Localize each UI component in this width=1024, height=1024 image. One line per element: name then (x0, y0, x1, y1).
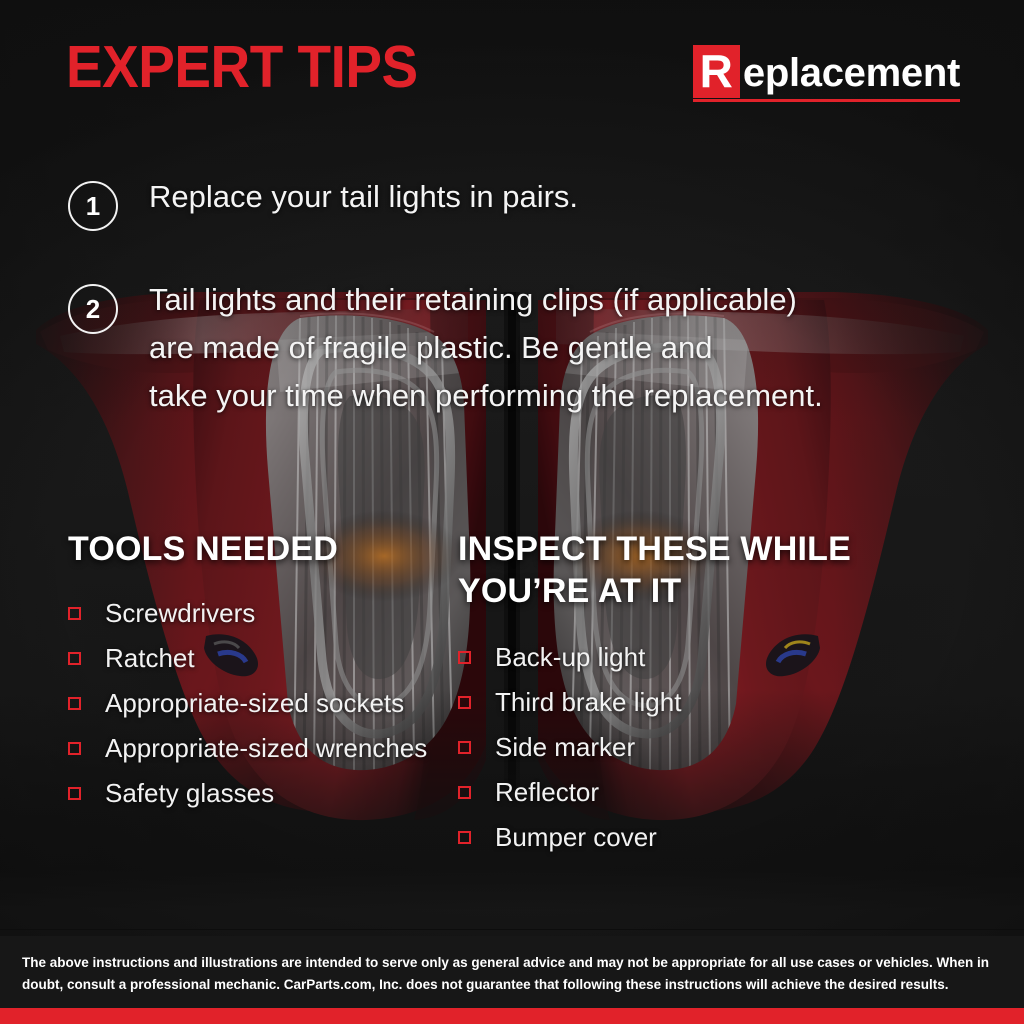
list-item-label: Safety glasses (105, 771, 274, 816)
list-item-label: Ratchet (105, 636, 195, 681)
list-item: Screwdrivers (68, 591, 427, 636)
list-item-label: Third brake light (495, 680, 681, 725)
tools-needed-section: TOOLS NEEDED Screwdrivers Ratchet Approp… (68, 528, 427, 816)
tip-item-2: 2 Tail lights and their retaining clips … (68, 284, 823, 420)
replacement-logo: R eplacement (693, 45, 960, 102)
tools-needed-list: Screwdrivers Ratchet Appropriate-sized s… (68, 591, 427, 816)
tools-needed-heading: TOOLS NEEDED (68, 528, 427, 570)
tip-text-2: Tail lights and their retaining clips (i… (149, 276, 823, 420)
checkbox-square-icon (68, 607, 81, 620)
list-item: Safety glasses (68, 771, 427, 816)
checkbox-square-icon (458, 831, 471, 844)
footer-divider (0, 929, 1024, 930)
list-item-label: Side marker (495, 725, 635, 770)
tip-text-1: Replace your tail lights in pairs. (149, 173, 578, 221)
list-item: Side marker (458, 725, 851, 770)
disclaimer-text: The above instructions and illustrations… (22, 952, 1002, 996)
checkbox-square-icon (68, 652, 81, 665)
list-item: Appropriate-sized wrenches (68, 726, 427, 771)
checkbox-square-icon (458, 696, 471, 709)
list-item-label: Appropriate-sized wrenches (105, 726, 427, 771)
checkbox-square-icon (458, 651, 471, 664)
inspect-these-section: INSPECT THESE WHILE YOU’RE AT IT Back-up… (458, 528, 851, 860)
list-item-label: Screwdrivers (105, 591, 255, 636)
inspect-these-heading: INSPECT THESE WHILE YOU’RE AT IT (458, 528, 851, 612)
list-item-label: Appropriate-sized sockets (105, 681, 404, 726)
bottom-accent-bar (0, 1008, 1024, 1024)
list-item-label: Reflector (495, 770, 599, 815)
inspect-these-list: Back-up light Third brake light Side mar… (458, 635, 851, 860)
tip-item-1: 1 Replace your tail lights in pairs. (68, 181, 578, 231)
checkbox-square-icon (68, 697, 81, 710)
page-title: EXPERT TIPS (66, 38, 418, 97)
list-item: Reflector (458, 770, 851, 815)
list-item: Bumper cover (458, 815, 851, 860)
list-item: Appropriate-sized sockets (68, 681, 427, 726)
list-item-label: Bumper cover (495, 815, 657, 860)
list-item: Third brake light (458, 680, 851, 725)
checkbox-square-icon (458, 786, 471, 799)
checkbox-square-icon (68, 742, 81, 755)
logo-wordmark: eplacement (740, 53, 960, 98)
tip-number-badge-2: 2 (68, 284, 118, 334)
list-item-label: Back-up light (495, 635, 645, 680)
checkbox-square-icon (458, 741, 471, 754)
footer-disclaimer: The above instructions and illustrations… (0, 936, 1024, 1008)
checkbox-square-icon (68, 787, 81, 800)
list-item: Back-up light (458, 635, 851, 680)
expert-tips-poster: EXPERT TIPS R eplacement 1 Replace your … (0, 0, 1024, 1024)
logo-mark-r: R (693, 45, 740, 98)
tip-number-badge-1: 1 (68, 181, 118, 231)
logo-underline (693, 99, 960, 102)
list-item: Ratchet (68, 636, 427, 681)
